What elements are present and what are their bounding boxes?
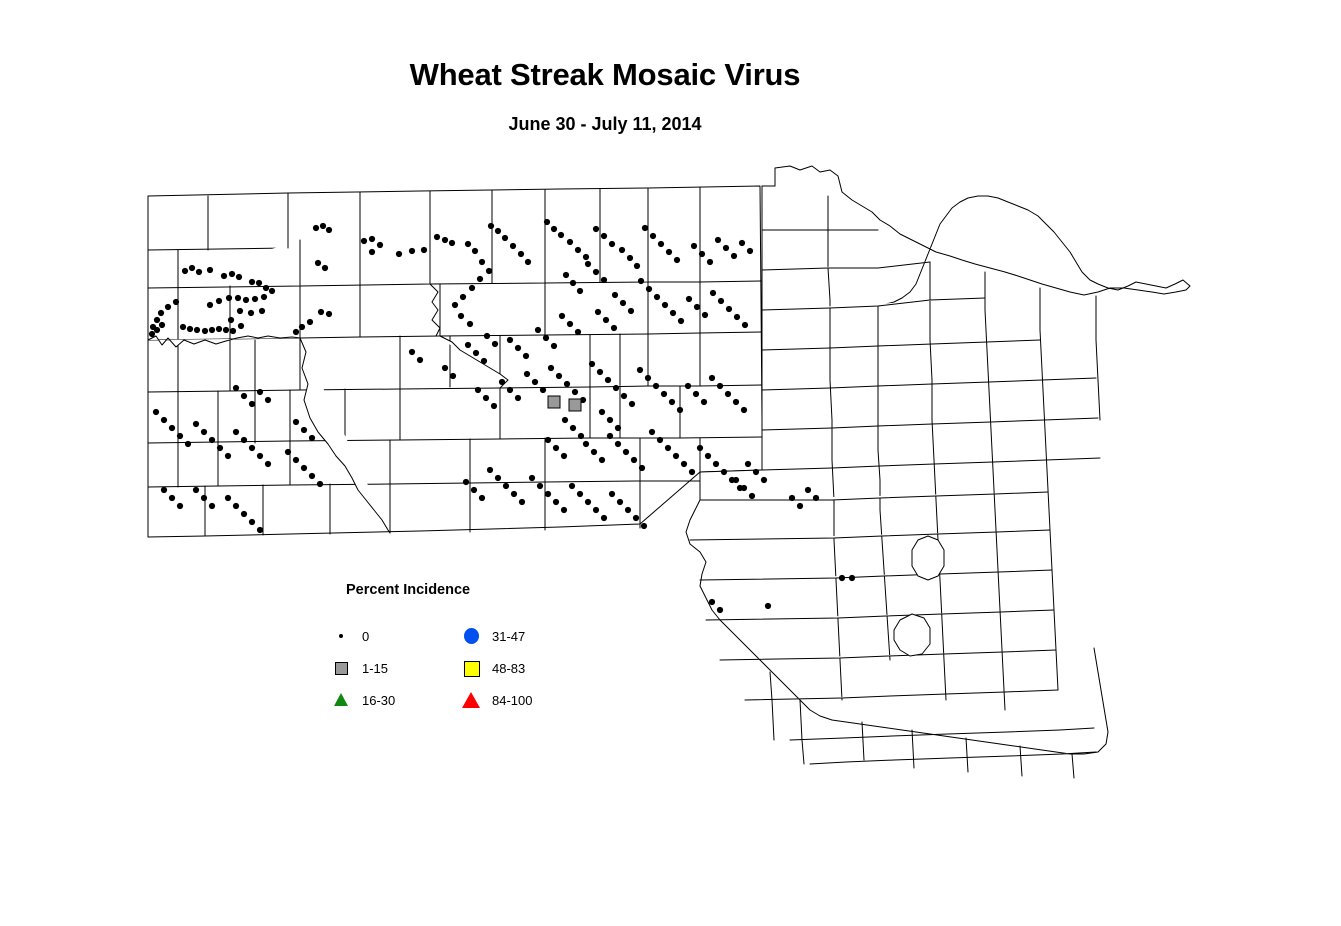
incidence-point-zero[interactable]	[377, 242, 383, 248]
incidence-point-zero[interactable]	[326, 227, 332, 233]
legend-item-84-100[interactable]: 84-100	[458, 684, 532, 716]
incidence-point-zero[interactable]	[705, 453, 711, 459]
incidence-point-zero[interactable]	[249, 279, 255, 285]
incidence-point-zero[interactable]	[225, 453, 231, 459]
incidence-point-zero[interactable]	[315, 260, 321, 266]
incidence-point-zero[interactable]	[434, 234, 440, 240]
incidence-point-zero[interactable]	[229, 271, 235, 277]
incidence-point-zero[interactable]	[301, 427, 307, 433]
incidence-point-zero[interactable]	[153, 409, 159, 415]
incidence-point-zero[interactable]	[173, 299, 179, 305]
incidence-point-zero[interactable]	[216, 326, 222, 332]
legend-label-1-15: 1-15	[362, 661, 388, 676]
incidence-point-zero[interactable]	[665, 445, 671, 451]
incidence-point-zero[interactable]	[707, 259, 713, 265]
incidence-point-zero[interactable]	[261, 294, 267, 300]
incidence-point-zero[interactable]	[177, 433, 183, 439]
incidence-point-zero[interactable]	[607, 433, 613, 439]
incidence-point-zero[interactable]	[233, 503, 239, 509]
incidence-point-zero[interactable]	[572, 389, 578, 395]
incidence-point-zero[interactable]	[465, 342, 471, 348]
incidence-point-zero[interactable]	[813, 495, 819, 501]
incidence-point-zero[interactable]	[753, 469, 759, 475]
incidence-point-zero[interactable]	[515, 395, 521, 401]
incidence-point-zero[interactable]	[507, 337, 513, 343]
incidence-point-zero[interactable]	[585, 499, 591, 505]
incidence-point-zero[interactable]	[619, 247, 625, 253]
incidence-point-zero[interactable]	[209, 437, 215, 443]
incidence-point-zero[interactable]	[627, 255, 633, 261]
incidence-point-zero[interactable]	[745, 461, 751, 467]
incidence-point-zero[interactable]	[599, 457, 605, 463]
incidence-point-zero[interactable]	[713, 461, 719, 467]
incidence-point-zero[interactable]	[685, 383, 691, 389]
incidence-point-zero[interactable]	[789, 495, 795, 501]
incidence-point-zero[interactable]	[593, 507, 599, 513]
incidence-point-zero[interactable]	[633, 515, 639, 521]
incidence-point-zero[interactable]	[475, 387, 481, 393]
incidence-point-zero[interactable]	[544, 219, 550, 225]
incidence-point-zero[interactable]	[593, 226, 599, 232]
incidence-point-zero[interactable]	[257, 527, 263, 533]
incidence-point-zero[interactable]	[585, 261, 591, 267]
incidence-point-zero[interactable]	[196, 269, 202, 275]
incidence-point-zero[interactable]	[187, 326, 193, 332]
incidence-point-zero[interactable]	[285, 449, 291, 455]
incidence-point-zero[interactable]	[747, 248, 753, 254]
incidence-point-zero[interactable]	[458, 313, 464, 319]
incidence-point-zero[interactable]	[237, 308, 243, 314]
incidence-point-zero[interactable]	[697, 445, 703, 451]
incidence-point-zero[interactable]	[681, 461, 687, 467]
incidence-point-zero[interactable]	[765, 603, 771, 609]
incidence-point-zero[interactable]	[561, 453, 567, 459]
incidence-point-zero[interactable]	[487, 467, 493, 473]
incidence-point-zero[interactable]	[217, 445, 223, 451]
incidence-point-zero[interactable]	[243, 297, 249, 303]
county-map-svg[interactable]	[0, 0, 1341, 926]
incidence-point-zero[interactable]	[545, 491, 551, 497]
incidence-point-zero[interactable]	[169, 495, 175, 501]
incidence-point-zero[interactable]	[252, 296, 258, 302]
incidence-point-zero[interactable]	[662, 302, 668, 308]
incidence-point-zero[interactable]	[326, 311, 332, 317]
incidence-point-zero[interactable]	[193, 487, 199, 493]
incidence-point-zero[interactable]	[741, 407, 747, 413]
incidence-point-zero[interactable]	[161, 487, 167, 493]
incidence-point-zero[interactable]	[718, 298, 724, 304]
incidence-point-zero[interactable]	[320, 223, 326, 229]
incidence-point-zero[interactable]	[686, 296, 692, 302]
incidence-point-zero[interactable]	[558, 232, 564, 238]
incidence-point-zero[interactable]	[657, 437, 663, 443]
incidence-point-zero[interactable]	[537, 483, 543, 489]
incidence-point-zero[interactable]	[710, 290, 716, 296]
incidence-point-zero[interactable]	[507, 387, 513, 393]
incidence-point-zero[interactable]	[491, 403, 497, 409]
incidence-point-zero[interactable]	[721, 469, 727, 475]
incidence-point-zero[interactable]	[612, 292, 618, 298]
incidence-point-zero[interactable]	[553, 499, 559, 505]
incidence-point-zero[interactable]	[742, 322, 748, 328]
incidence-point-zero[interactable]	[620, 300, 626, 306]
legend-label-31-47: 31-47	[492, 629, 525, 644]
incidence-point-zero[interactable]	[241, 393, 247, 399]
legend-swatch-green-triangle-icon	[328, 689, 354, 711]
incidence-point-zero[interactable]	[609, 241, 615, 247]
incidence-point-zero[interactable]	[601, 233, 607, 239]
incidence-point-zero[interactable]	[177, 503, 183, 509]
incidence-point-zero[interactable]	[159, 322, 165, 328]
incidence-point-zero[interactable]	[230, 328, 236, 334]
incidence-point-zero[interactable]	[595, 309, 601, 315]
incidence-point-zero[interactable]	[249, 519, 255, 525]
incidence-point-zero[interactable]	[577, 288, 583, 294]
incidence-point-zero[interactable]	[409, 349, 415, 355]
incidence-point-zero[interactable]	[621, 393, 627, 399]
incidence-point-zero[interactable]	[207, 302, 213, 308]
incidence-point-zero[interactable]	[256, 280, 262, 286]
incidence-point-zero[interactable]	[548, 365, 554, 371]
incidence-point-zero[interactable]	[645, 375, 651, 381]
incidence-point-zero[interactable]	[518, 251, 524, 257]
incidence-point-zero[interactable]	[613, 385, 619, 391]
incidence-point-zero[interactable]	[265, 397, 271, 403]
incidence-point-zero[interactable]	[577, 491, 583, 497]
incidence-point-zero[interactable]	[421, 247, 427, 253]
incidence-point-zero[interactable]	[725, 391, 731, 397]
incidence-point-zero[interactable]	[628, 308, 634, 314]
incidence-point-zero[interactable]	[495, 228, 501, 234]
incidence-point-zero[interactable]	[463, 479, 469, 485]
incidence-point-zero[interactable]	[569, 483, 575, 489]
incidence-point-zero[interactable]	[221, 273, 227, 279]
incidence-point-zero[interactable]	[717, 607, 723, 613]
incidence-point-zero[interactable]	[479, 495, 485, 501]
incidence-point-zero[interactable]	[442, 365, 448, 371]
incidence-point-zero[interactable]	[532, 379, 538, 385]
incidence-point-zero[interactable]	[637, 367, 643, 373]
incidence-point-zero[interactable]	[322, 265, 328, 271]
incidence-point-zero[interactable]	[442, 237, 448, 243]
incidence-point-zero[interactable]	[805, 487, 811, 493]
incidence-point-zero[interactable]	[631, 457, 637, 463]
incidence-point-zero[interactable]	[629, 401, 635, 407]
incidence-point-zero[interactable]	[551, 226, 557, 232]
incidence-point-zero[interactable]	[369, 249, 375, 255]
incidence-point-zero[interactable]	[249, 445, 255, 451]
incidence-point-zero[interactable]	[488, 223, 494, 229]
incidence-point-zero[interactable]	[702, 312, 708, 318]
incidence-point-zero[interactable]	[452, 302, 458, 308]
incidence-point-zero[interactable]	[689, 469, 695, 475]
incidence-point-zero[interactable]	[678, 318, 684, 324]
incidence-point-zero[interactable]	[495, 475, 501, 481]
incidence-point-1-15[interactable]	[569, 399, 581, 411]
incidence-point-zero[interactable]	[450, 373, 456, 379]
incidence-point-zero[interactable]	[523, 353, 529, 359]
legend-swatch-red-triangle-icon	[458, 689, 484, 711]
incidence-point-zero[interactable]	[149, 331, 155, 337]
legend-item-1-15[interactable]: 1-15	[328, 652, 395, 684]
incidence-point-zero[interactable]	[396, 251, 402, 257]
incidence-point-zero[interactable]	[483, 395, 489, 401]
incidence-point-zero[interactable]	[575, 247, 581, 253]
incidence-point-zero[interactable]	[154, 317, 160, 323]
incidence-point-zero[interactable]	[670, 310, 676, 316]
incidence-point-zero[interactable]	[561, 507, 567, 513]
incidence-point-zero[interactable]	[465, 241, 471, 247]
incidence-point-zero[interactable]	[617, 499, 623, 505]
incidence-point-zero[interactable]	[484, 333, 490, 339]
incidence-point-zero[interactable]	[154, 327, 160, 333]
legend-item-48-83[interactable]: 48-83	[458, 652, 532, 684]
incidence-point-zero[interactable]	[161, 417, 167, 423]
incidence-point-zero[interactable]	[313, 225, 319, 231]
incidence-point-zero[interactable]	[511, 491, 517, 497]
incidence-point-zero[interactable]	[259, 308, 265, 314]
incidence-point-zero[interactable]	[216, 298, 222, 304]
incidence-point-zero[interactable]	[567, 321, 573, 327]
incidence-point-zero[interactable]	[701, 399, 707, 405]
incidence-point-zero[interactable]	[417, 357, 423, 363]
incidence-point-zero[interactable]	[238, 323, 244, 329]
incidence-point-zero[interactable]	[556, 373, 562, 379]
incidence-point-zero[interactable]	[307, 319, 313, 325]
incidence-point-1-15[interactable]	[548, 396, 560, 408]
incidence-point-zero[interactable]	[601, 277, 607, 283]
incidence-point-zero[interactable]	[715, 237, 721, 243]
incidence-point-zero[interactable]	[299, 324, 305, 330]
incidence-point-zero[interactable]	[361, 238, 367, 244]
incidence-point-zero[interactable]	[839, 575, 845, 581]
incidence-point-zero[interactable]	[625, 507, 631, 513]
incidence-point-zero[interactable]	[601, 515, 607, 521]
incidence-point-zero[interactable]	[535, 327, 541, 333]
incidence-point-zero[interactable]	[293, 329, 299, 335]
incidence-point-zero[interactable]	[599, 409, 605, 415]
incidence-point-zero[interactable]	[797, 503, 803, 509]
incidence-point-zero[interactable]	[731, 253, 737, 259]
incidence-point-zero[interactable]	[223, 327, 229, 333]
incidence-point-zero[interactable]	[589, 361, 595, 367]
incidence-point-zero[interactable]	[545, 437, 551, 443]
incidence-point-zero[interactable]	[257, 453, 263, 459]
incidence-point-zero[interactable]	[603, 317, 609, 323]
incidence-point-zero[interactable]	[293, 419, 299, 425]
incidence-point-zero[interactable]	[694, 304, 700, 310]
incidence-point-zero[interactable]	[567, 239, 573, 245]
incidence-point-zero[interactable]	[193, 421, 199, 427]
incidence-point-zero[interactable]	[733, 477, 739, 483]
incidence-point-zero[interactable]	[583, 254, 589, 260]
incidence-point-zero[interactable]	[503, 483, 509, 489]
legend-label-0: 0	[362, 629, 369, 644]
incidence-point-zero[interactable]	[499, 379, 505, 385]
incidence-point-zero[interactable]	[515, 345, 521, 351]
incidence-point-zero[interactable]	[658, 241, 664, 247]
incidence-point-zero[interactable]	[717, 383, 723, 389]
incidence-point-zero[interactable]	[182, 268, 188, 274]
incidence-point-zero[interactable]	[477, 276, 483, 282]
legend-swatch-blue-circle-icon	[458, 625, 484, 647]
incidence-point-zero[interactable]	[575, 329, 581, 335]
legend-swatch-gray-square-icon	[328, 657, 354, 679]
incidence-point-zero[interactable]	[233, 385, 239, 391]
incidence-point-zero[interactable]	[611, 325, 617, 331]
incidence-point-zero[interactable]	[709, 375, 715, 381]
incidence-point-zero[interactable]	[194, 327, 200, 333]
incidence-point-zero[interactable]	[733, 399, 739, 405]
incidence-point-zero[interactable]	[607, 417, 613, 423]
incidence-point-zero[interactable]	[593, 269, 599, 275]
incidence-point-zero[interactable]	[225, 495, 231, 501]
incidence-point-zero[interactable]	[209, 327, 215, 333]
incidence-point-zero[interactable]	[570, 280, 576, 286]
incidence-point-zero[interactable]	[615, 425, 621, 431]
incidence-point-zero[interactable]	[479, 259, 485, 265]
incidence-point-zero[interactable]	[669, 399, 675, 405]
incidence-point-zero[interactable]	[551, 343, 557, 349]
incidence-point-zero[interactable]	[661, 391, 667, 397]
incidence-point-zero[interactable]	[741, 485, 747, 491]
incidence-point-zero[interactable]	[460, 294, 466, 300]
incidence-point-zero[interactable]	[723, 245, 729, 251]
incidence-point-zero[interactable]	[649, 429, 655, 435]
incidence-point-zero[interactable]	[674, 257, 680, 263]
incidence-point-zero[interactable]	[309, 435, 315, 441]
incidence-point-zero[interactable]	[449, 240, 455, 246]
incidence-point-zero[interactable]	[563, 272, 569, 278]
incidence-point-zero[interactable]	[235, 295, 241, 301]
incidence-point-zero[interactable]	[249, 401, 255, 407]
incidence-point-zero[interactable]	[228, 317, 234, 323]
incidence-point-zero[interactable]	[597, 369, 603, 375]
incidence-point-zero[interactable]	[467, 321, 473, 327]
incidence-point-zero[interactable]	[578, 433, 584, 439]
map-canvas[interactable]	[0, 0, 1341, 926]
incidence-point-zero[interactable]	[471, 487, 477, 493]
incidence-point-zero[interactable]	[673, 453, 679, 459]
incidence-point-zero[interactable]	[559, 313, 565, 319]
incidence-point-zero[interactable]	[564, 381, 570, 387]
incidence-point-zero[interactable]	[734, 314, 740, 320]
incidence-point-zero[interactable]	[169, 425, 175, 431]
incidence-point-zero[interactable]	[543, 335, 549, 341]
incidence-point-zero[interactable]	[241, 511, 247, 517]
incidence-point-zero[interactable]	[666, 249, 672, 255]
incidence-point-zero[interactable]	[309, 473, 315, 479]
incidence-point-zero[interactable]	[369, 236, 375, 242]
incidence-point-zero[interactable]	[519, 499, 525, 505]
incidence-point-zero[interactable]	[207, 267, 213, 273]
incidence-point-zero[interactable]	[409, 248, 415, 254]
incidence-point-zero[interactable]	[650, 233, 656, 239]
incidence-point-zero[interactable]	[469, 285, 475, 291]
incidence-point-zero[interactable]	[609, 491, 615, 497]
incidence-point-zero[interactable]	[570, 425, 576, 431]
incidence-point-zero[interactable]	[180, 324, 186, 330]
incidence-point-zero[interactable]	[201, 429, 207, 435]
incidence-point-zero[interactable]	[605, 377, 611, 383]
incidence-point-zero[interactable]	[263, 285, 269, 291]
incidence-point-zero[interactable]	[226, 295, 232, 301]
incidence-point-zero[interactable]	[209, 503, 215, 509]
legend-swatch-zero-dot-icon	[328, 625, 354, 647]
incidence-point-zero[interactable]	[265, 461, 271, 467]
incidence-point-zero[interactable]	[525, 259, 531, 265]
incidence-point-zero[interactable]	[639, 465, 645, 471]
incidence-point-zero[interactable]	[646, 286, 652, 292]
incidence-point-zero[interactable]	[473, 350, 479, 356]
incidence-point-zero[interactable]	[693, 391, 699, 397]
incidence-point-zero[interactable]	[165, 304, 171, 310]
incidence-point-zero[interactable]	[158, 310, 164, 316]
incidence-point-zero[interactable]	[691, 243, 697, 249]
incidence-point-zero[interactable]	[202, 328, 208, 334]
legend-label-16-30: 16-30	[362, 693, 395, 708]
incidence-point-zero[interactable]	[241, 437, 247, 443]
incidence-point-zero[interactable]	[233, 429, 239, 435]
incidence-point-zero[interactable]	[201, 495, 207, 501]
incidence-point-zero[interactable]	[236, 274, 242, 280]
incidence-point-zero[interactable]	[553, 445, 559, 451]
incidence-point-zero[interactable]	[654, 294, 660, 300]
incidence-point-zero[interactable]	[293, 457, 299, 463]
incidence-point-zero[interactable]	[318, 309, 324, 315]
incidence-point-zero[interactable]	[562, 417, 568, 423]
incidence-point-zero[interactable]	[749, 493, 755, 499]
incidence-point-zero[interactable]	[269, 288, 275, 294]
incidence-point-zero[interactable]	[510, 243, 516, 249]
incidence-point-zero[interactable]	[638, 278, 644, 284]
incidence-point-zero[interactable]	[317, 481, 323, 487]
incidence-point-zero[interactable]	[634, 263, 640, 269]
incidence-point-zero[interactable]	[492, 341, 498, 347]
legend-item-31-47[interactable]: 31-47	[458, 620, 532, 652]
incidence-point-zero[interactable]	[642, 225, 648, 231]
incidence-point-zero[interactable]	[257, 389, 263, 395]
incidence-point-zero[interactable]	[486, 268, 492, 274]
incidence-point-zero[interactable]	[502, 235, 508, 241]
incidence-point-zero[interactable]	[849, 575, 855, 581]
incidence-point-zero[interactable]	[248, 310, 254, 316]
incidence-point-zero[interactable]	[481, 358, 487, 364]
incidence-point-zero[interactable]	[761, 477, 767, 483]
incidence-point-zero[interactable]	[529, 475, 535, 481]
incidence-point-zero[interactable]	[301, 465, 307, 471]
incidence-point-zero[interactable]	[726, 306, 732, 312]
incidence-point-zero[interactable]	[615, 441, 621, 447]
incidence-point-zero[interactable]	[677, 407, 683, 413]
incidence-point-zero[interactable]	[653, 383, 659, 389]
incidence-point-zero[interactable]	[524, 371, 530, 377]
legend-item-0[interactable]: 0	[328, 620, 395, 652]
incidence-point-zero[interactable]	[699, 251, 705, 257]
incidence-point-zero[interactable]	[472, 248, 478, 254]
incidence-point-zero[interactable]	[185, 441, 191, 447]
legend-column-left: 0 1-15 16-30	[328, 620, 395, 716]
incidence-point-zero[interactable]	[189, 265, 195, 271]
incidence-point-zero[interactable]	[591, 449, 597, 455]
incidence-point-zero[interactable]	[709, 599, 715, 605]
incidence-point-zero[interactable]	[739, 240, 745, 246]
incidence-point-zero[interactable]	[641, 523, 647, 529]
legend-item-16-30[interactable]: 16-30	[328, 684, 395, 716]
incidence-point-zero[interactable]	[540, 387, 546, 393]
incidence-point-zero[interactable]	[623, 449, 629, 455]
incidence-point-zero[interactable]	[583, 441, 589, 447]
